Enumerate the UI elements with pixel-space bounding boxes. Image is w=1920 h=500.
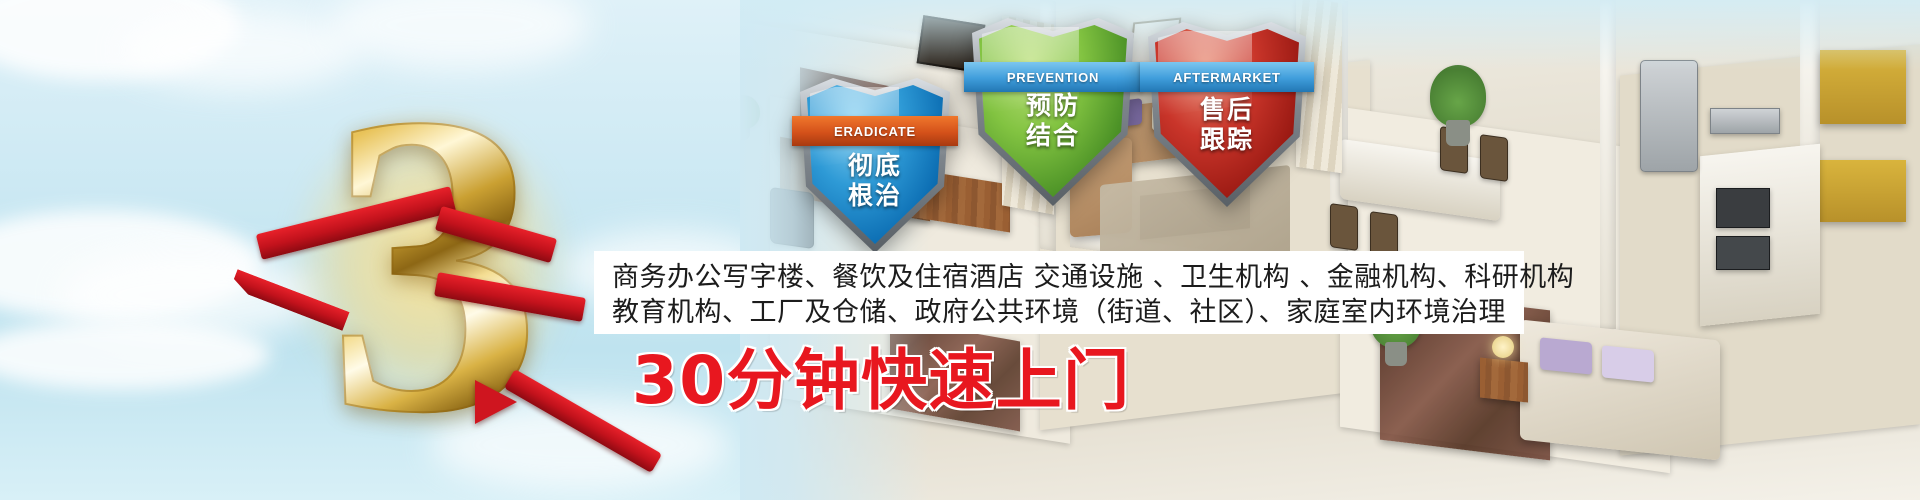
- shield-chinese-label: 售后 跟踪: [1148, 96, 1306, 154]
- shield-ribbon-band: PREVENTION: [964, 62, 1142, 92]
- numeral-glyph: 3: [327, 97, 533, 432]
- oven: [1716, 188, 1770, 228]
- shield-badge-eradicate: ERADICATE 彻底 根治: [800, 78, 950, 253]
- range-hood: [1710, 108, 1780, 134]
- plant-pot: [1385, 342, 1407, 366]
- pillow: [1540, 337, 1592, 374]
- shield-cn-bottom: 根治: [800, 182, 950, 210]
- ribbon-tail: [230, 269, 349, 331]
- service-scope-line-2: 教育机构、工厂及仓储、政府公共环境（街道、社区）、家庭室内环境治理: [612, 295, 1508, 330]
- plant-pot: [1446, 120, 1470, 146]
- shield-ribbon-band: AFTERMARKET: [1140, 62, 1314, 92]
- shield-badge-prevention: PREVENTION 预防 结合: [972, 18, 1134, 206]
- ribbon-wrap: [434, 272, 586, 322]
- pillow: [1602, 345, 1654, 382]
- service-scope-line-1: 商务办公写字楼、餐饮及住宿酒店 交通设施 、卫生机构 、金融机构、科研机构: [612, 260, 1508, 295]
- kitchen-cabinet: [1820, 160, 1906, 222]
- ribbon-wrap: [256, 186, 456, 260]
- refrigerator: [1640, 60, 1698, 172]
- table-lamp: [1492, 336, 1514, 358]
- dining-chair: [1330, 203, 1358, 251]
- shield-english-label: ERADICATE: [834, 124, 916, 139]
- cloud-decor: [60, 250, 320, 340]
- shield-cn-bottom: 跟踪: [1148, 126, 1306, 154]
- shield-cn-top: 售后: [1148, 96, 1306, 124]
- shield-cn-bottom: 结合: [972, 122, 1134, 150]
- shield-cn-top: 彻底: [800, 152, 950, 180]
- shield-badge-aftermarket: AFTERMARKET 售后 跟踪: [1148, 22, 1306, 207]
- cloud-decor: [120, 10, 360, 90]
- shield-english-label: PREVENTION: [1007, 70, 1099, 85]
- dining-chair: [1480, 134, 1508, 182]
- cloud-decor: [0, 320, 270, 390]
- nightstand: [1480, 357, 1528, 402]
- ribbon-arrow-icon: [475, 380, 517, 424]
- shield-english-label: AFTERMARKET: [1173, 70, 1281, 85]
- shield-cn-top: 预防: [972, 92, 1134, 120]
- headline-text: 30分钟快速上门: [632, 348, 1130, 414]
- cloud-decor: [0, 0, 240, 80]
- kitchen-counter: [1700, 144, 1820, 327]
- microwave: [1716, 236, 1770, 270]
- shield-chinese-label: 彻底 根治: [800, 152, 950, 210]
- plant-leaf: [1430, 65, 1486, 127]
- cloud-decor: [330, 0, 590, 70]
- cloud-decor: [0, 210, 260, 320]
- promo-banner: 3 ERADICATE 彻底 根治 PREVENTION 预防 结合: [0, 0, 1920, 500]
- gold-numeral-three: 3: [250, 80, 610, 450]
- service-scope-panel: 商务办公写字楼、餐饮及住宿酒店 交通设施 、卫生机构 、金融机构、科研机构 教育…: [594, 251, 1524, 334]
- shield-ribbon-band: ERADICATE: [792, 116, 958, 146]
- ribbon-wrap: [435, 206, 557, 263]
- shield-chinese-label: 预防 结合: [972, 92, 1134, 150]
